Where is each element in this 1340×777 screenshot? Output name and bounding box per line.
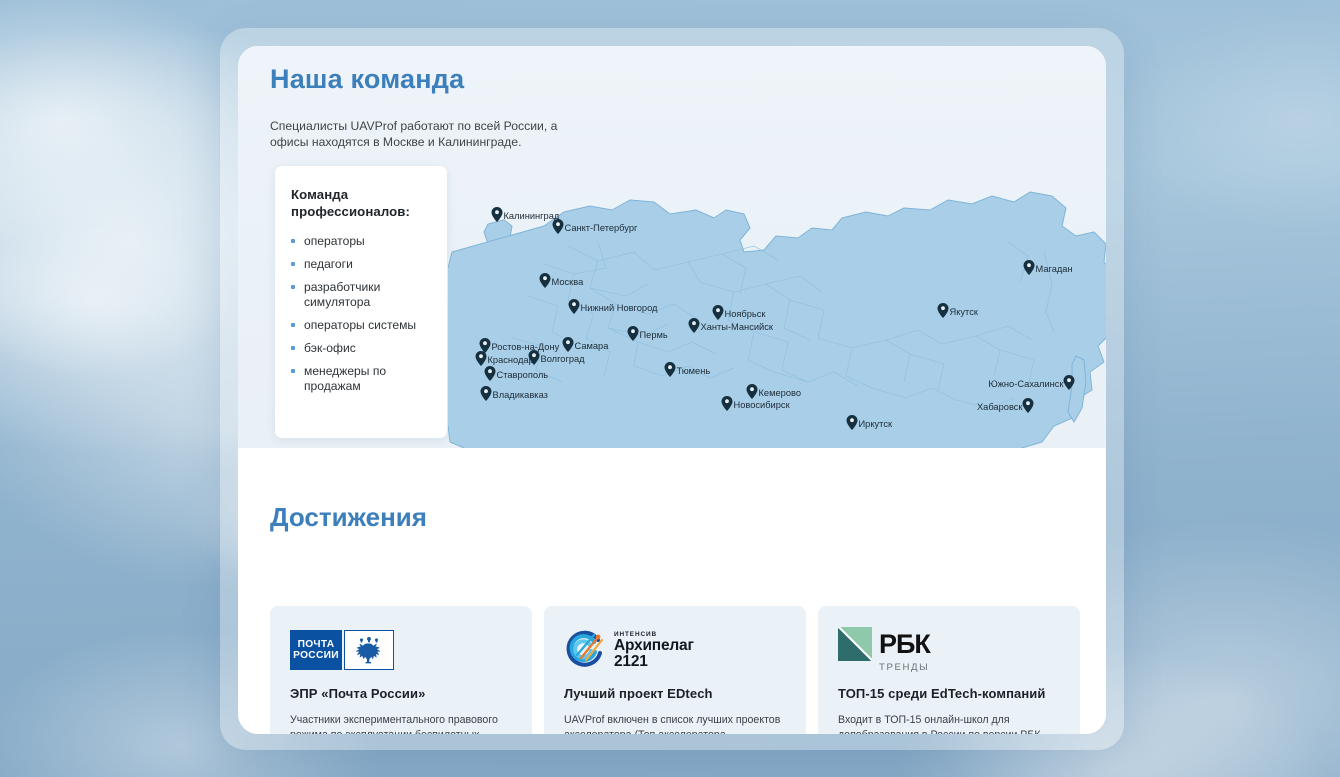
location-pin-icon — [847, 415, 858, 430]
achievements-title: Достижения — [270, 502, 427, 533]
location-pin-icon — [540, 273, 551, 288]
map-pin[interactable]: Волгоград — [529, 350, 540, 365]
map-pin[interactable]: Москва — [540, 273, 551, 288]
map-pin-label: Южно-Сахалинск — [988, 379, 1063, 389]
map-pin[interactable]: Тюмень — [665, 362, 676, 377]
map-pin[interactable]: Калининград — [492, 207, 503, 222]
map-pin-label: Москва — [552, 277, 584, 287]
map-pin[interactable]: Кемерово — [747, 384, 758, 399]
location-pin-icon — [476, 351, 487, 366]
page-panel: Наша команда Специалисты UAVProf работаю… — [238, 46, 1106, 734]
achievement-card-text: Участники экспериментального правового р… — [290, 713, 512, 734]
map-pin[interactable]: Ноябрьск — [713, 305, 724, 320]
team-card: Команда профессионалов: операторы педаго… — [275, 166, 447, 438]
map-pin[interactable]: Южно-Сахалинск — [1064, 375, 1075, 390]
achievement-cards: ПОЧТА РОССИИ ЭПР «Поч — [270, 606, 1080, 734]
location-pin-icon — [563, 337, 574, 352]
double-headed-eagle-icon — [344, 630, 394, 670]
page-title: Наша команда — [270, 64, 464, 95]
map-pin-label: Кемерово — [759, 388, 802, 398]
list-item: операторы системы — [291, 318, 431, 333]
map-pin[interactable]: Хабаровск — [1023, 398, 1034, 413]
map-pin-label: Ханты-Мансийск — [701, 322, 773, 332]
team-roles-list: операторы педагоги разработчики симулято… — [291, 234, 431, 394]
arkhipelag-logo: ИНТЕНСИВ Архипелаг 2121 — [564, 628, 786, 672]
map-pin-label: Самара — [575, 341, 609, 351]
map-pin[interactable]: Нижний Новгород — [569, 299, 580, 314]
list-item: бэк-офис — [291, 341, 431, 356]
map-pin-label: Хабаровск — [977, 402, 1023, 412]
achievement-card-rbk[interactable]: РБК ТРЕНДЫ ТОП-15 среди EdTech-компаний … — [818, 606, 1080, 734]
map-pin[interactable]: Магадан — [1024, 260, 1035, 275]
list-item: разработчики симулятора — [291, 280, 431, 310]
location-pin-icon — [938, 303, 949, 318]
achievement-card-text: Входит в ТОП-15 онлайн-школ для допобраз… — [838, 713, 1060, 734]
list-item: операторы — [291, 234, 431, 249]
rbk-subbrand: ТРЕНДЫ — [879, 662, 930, 673]
list-item: педагоги — [291, 257, 431, 272]
pochta-rossii-logo: ПОЧТА РОССИИ — [290, 628, 512, 672]
map-pin-label: Краснодар — [488, 355, 534, 365]
map-pin[interactable]: Иркутск — [847, 415, 858, 430]
location-pin-icon — [529, 350, 540, 365]
map-pin[interactable]: Владикавказ — [481, 386, 492, 401]
arkhipelag-year: 2121 — [614, 654, 694, 670]
location-pin-icon — [713, 305, 724, 320]
achievement-card-title: Лучший проект EDtech — [564, 686, 786, 701]
location-pin-icon — [553, 219, 564, 234]
map-pin[interactable]: Санкт-Петербург — [553, 219, 564, 234]
location-pin-icon — [665, 362, 676, 377]
location-pin-icon — [485, 366, 496, 381]
map-pin[interactable]: Ставрополь — [485, 366, 496, 381]
arkhipelag-name: Архипелаг — [614, 638, 694, 654]
location-pin-icon — [722, 396, 733, 411]
location-pin-icon — [628, 326, 639, 341]
map-pin-label: Санкт-Петербург — [565, 223, 638, 233]
map-pin[interactable]: Новосибирск — [722, 396, 733, 411]
map-pin-label: Нижний Новгород — [581, 303, 658, 313]
pochta-rossii-wordmark: ПОЧТА РОССИИ — [290, 630, 342, 670]
location-pin-icon — [689, 318, 700, 333]
rbk-trendy-logo: РБК ТРЕНДЫ — [838, 628, 1060, 672]
achievement-card-title: ТОП-15 среди EdTech-компаний — [838, 686, 1060, 701]
map-pin[interactable]: Самара — [563, 337, 574, 352]
location-pin-icon — [1064, 375, 1075, 390]
map-pin[interactable]: Краснодар — [476, 351, 487, 366]
map-pin[interactable]: Ханты-Мансийск — [689, 318, 700, 333]
achievement-card-arkhipelag[interactable]: ИНТЕНСИВ Архипелаг 2121 Лучший проект ED… — [544, 606, 806, 734]
location-pin-icon — [492, 207, 503, 222]
team-section: Наша команда Специалисты UAVProf работаю… — [238, 46, 1106, 448]
location-pin-icon — [1023, 398, 1034, 413]
map-pin-label: Волгоград — [541, 354, 585, 364]
rbk-diagonal-square-icon — [838, 627, 872, 661]
rbk-wordmark: РБК — [879, 631, 930, 658]
map-pin-label: Ростов-на-Дону — [492, 342, 560, 352]
location-pin-icon — [747, 384, 758, 399]
achievements-section: Достижения ПОЧТА РОССИИ — [238, 448, 1106, 734]
achievement-card-text: UAVProf включен в список лучших проектов… — [564, 713, 786, 734]
map-pin-label: Ставрополь — [497, 370, 549, 380]
map-pin[interactable]: Пермь — [628, 326, 639, 341]
location-pin-icon — [481, 386, 492, 401]
pochta-rossii-line2: РОССИИ — [293, 650, 339, 661]
location-pin-icon — [1024, 260, 1035, 275]
achievement-card-title: ЭПР «Почта России» — [290, 686, 512, 701]
map-pin-label: Магадан — [1036, 264, 1073, 274]
list-item: менеджеры по продажам — [291, 364, 431, 394]
russia-map: КалининградСанкт-ПетербургМоскваНижний Н… — [448, 56, 1106, 448]
map-pin-label: Ноябрьск — [725, 309, 766, 319]
map-pin-label: Пермь — [640, 330, 668, 340]
map-pin-label: Владикавказ — [493, 390, 548, 400]
map-pin-label: Иркутск — [859, 419, 893, 429]
map-pin-label: Новосибирск — [734, 400, 790, 410]
map-pin[interactable]: Якутск — [938, 303, 949, 318]
location-pin-icon — [569, 299, 580, 314]
team-card-title: Команда профессионалов: — [291, 186, 431, 220]
map-pin-label: Калининград — [504, 211, 560, 221]
arkhipelag-swirl-icon — [564, 629, 606, 671]
pochta-rossii-line1: ПОЧТА — [298, 639, 335, 650]
achievement-card-pochta-rossii[interactable]: ПОЧТА РОССИИ ЭПР «Поч — [270, 606, 532, 734]
map-pin-label: Тюмень — [677, 366, 711, 376]
map-pin-label: Якутск — [950, 307, 978, 317]
